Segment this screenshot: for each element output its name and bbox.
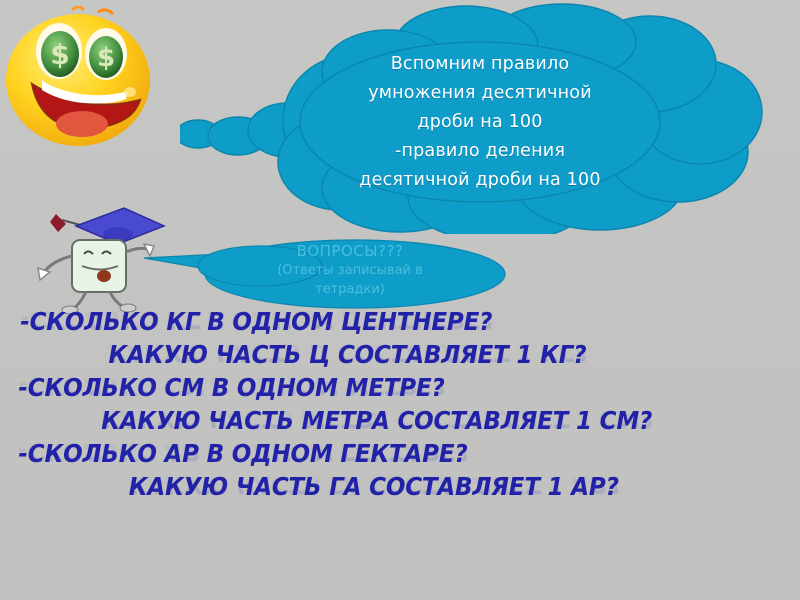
graduate-book-character-graphic xyxy=(32,196,172,314)
thought-cloud: Вспомним правило умножения десятичной др… xyxy=(180,2,780,234)
cloud-line-2: умножения десятичной xyxy=(300,79,660,108)
question-row-1: -СКОЛЬКО КГ В ОДНОМ ЦЕНТНЕРЕ? -СКОЛЬКО К… xyxy=(0,308,800,341)
cloud-text-block: Вспомним правило умножения десятичной др… xyxy=(300,50,660,195)
speech-bubble-text-block: ВОПРОСЫ??? (Ответы записывай в тетрадки) xyxy=(235,242,465,299)
speech-line-2: (Ответы записывай в xyxy=(235,261,465,280)
question-text-6: КАКУЮ ЧАСТЬ ГА СОСТАВЛЯЕТ 1 АР? xyxy=(0,473,619,500)
question-text-3: -СКОЛЬКО СМ В ОДНОМ МЕТРЕ? xyxy=(0,374,445,401)
speech-line-1: ВОПРОСЫ??? xyxy=(235,242,465,261)
cloud-line-4: -правило деления xyxy=(300,137,660,166)
graduate-book-character xyxy=(32,196,172,314)
cloud-line-1: Вспомним правило xyxy=(300,50,660,79)
dollar-sign-icon-right: $ xyxy=(97,43,115,73)
question-text-4: КАКУЮ ЧАСТЬ МЕТРА СОСТАВЛЯЕТ 1 СМ? xyxy=(0,407,652,434)
smiley-face: $ $ xyxy=(2,6,162,151)
question-text-5: -СКОЛЬКО АР В ОДНОМ ГЕКТАРЕ? xyxy=(0,440,468,467)
cloud-line-3: дроби на 100 xyxy=(300,108,660,137)
cloud-line-5: десятичной дроби на 100 xyxy=(300,166,660,195)
question-row-4: КАКУЮ ЧАСТЬ МЕТРА СОСТАВЛЯЕТ 1 СМ? КАКУЮ… xyxy=(0,407,800,440)
question-list: -СКОЛЬКО КГ В ОДНОМ ЦЕНТНЕРЕ? -СКОЛЬКО К… xyxy=(0,308,800,506)
speech-line-3: тетрадки) xyxy=(235,280,465,299)
question-row-2: КАКУЮ ЧАСТЬ Ц СОСТАВЛЯЕТ 1 КГ? КАКУЮ ЧАС… xyxy=(0,341,800,374)
dollar-sign-icon-left: $ xyxy=(50,38,69,71)
question-row-6: КАКУЮ ЧАСТЬ ГА СОСТАВЛЯЕТ 1 АР? КАКУЮ ЧА… xyxy=(0,473,800,506)
question-text-2: КАКУЮ ЧАСТЬ Ц СОСТАВЛЯЕТ 1 КГ? xyxy=(0,341,586,368)
slide-canvas: Вспомним правило умножения десятичной др… xyxy=(0,0,800,600)
question-row-5: -СКОЛЬКО АР В ОДНОМ ГЕКТАРЕ? -СКОЛЬКО АР… xyxy=(0,440,800,473)
speech-bubble: ВОПРОСЫ??? (Ответы записывай в тетрадки) xyxy=(140,230,540,315)
smiley-face-graphic: $ $ xyxy=(2,6,162,151)
question-row-3: -СКОЛЬКО СМ В ОДНОМ МЕТРЕ? -СКОЛЬКО СМ В… xyxy=(0,374,800,407)
question-text-1: -СКОЛЬКО КГ В ОДНОМ ЦЕНТНЕРЕ? xyxy=(0,308,492,335)
